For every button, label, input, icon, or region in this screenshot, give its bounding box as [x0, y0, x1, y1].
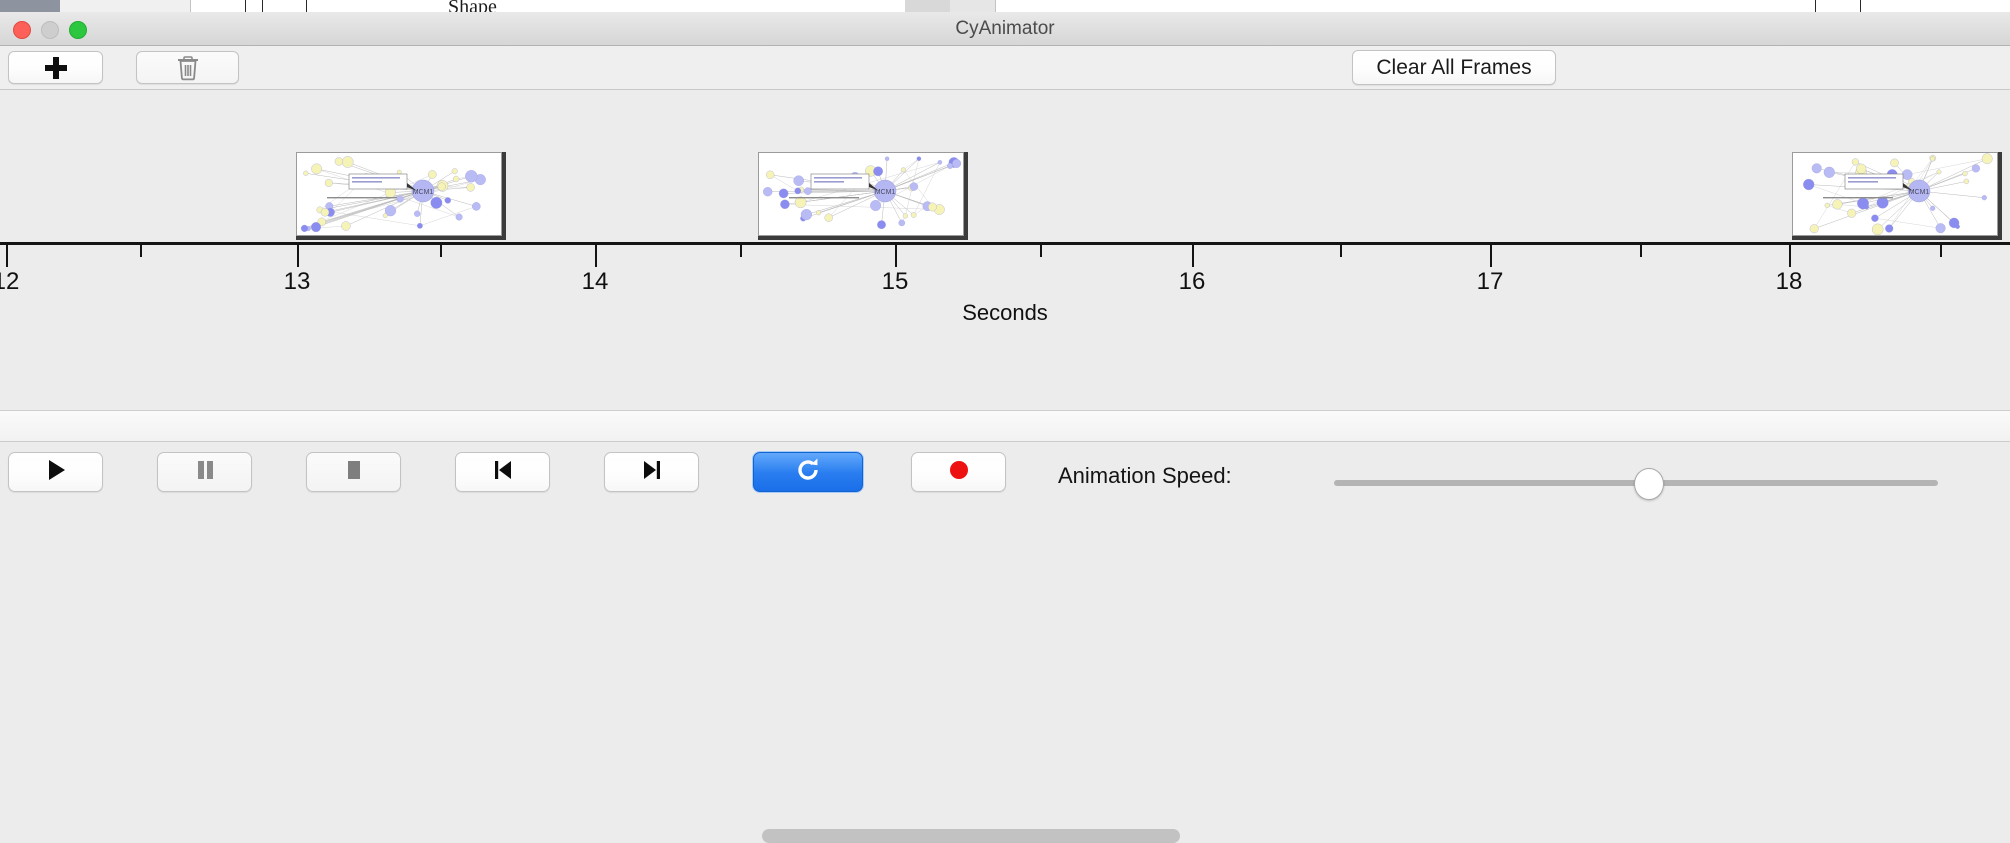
loop-button[interactable] [753, 452, 863, 492]
record-icon [946, 457, 972, 488]
scrollbar-thumb[interactable] [762, 829, 1180, 843]
animation-speed-label: Animation Speed: [1058, 463, 1232, 489]
axis-tick-minor [440, 245, 442, 257]
step-back-button[interactable] [455, 452, 550, 492]
play-button[interactable] [8, 452, 103, 492]
timeline-axis [0, 242, 2010, 245]
frame-thumbnail[interactable]: MCM1 [1792, 152, 1998, 236]
background-divider [1860, 0, 1861, 12]
axis-tick-major [1789, 245, 1791, 267]
axis-tick-major [1192, 245, 1194, 267]
loop-icon [794, 456, 822, 489]
axis-tick-minor [1340, 245, 1342, 257]
axis-tick-major [1490, 245, 1492, 267]
axis-tick-major [297, 245, 299, 267]
playback-control-bar: Animation Speed: [0, 442, 2010, 510]
axis-title: Seconds [0, 300, 2010, 326]
title-bar: CyAnimator [0, 12, 2010, 46]
pause-icon [192, 457, 218, 488]
timeline-frame[interactable]: MCM1 [758, 152, 968, 240]
background-tab [905, 0, 951, 12]
timeline-frame[interactable]: MCM1 [296, 152, 506, 240]
frame-thumbnail[interactable]: MCM1 [296, 152, 502, 236]
background-tab [950, 0, 996, 12]
axis-tick-minor [740, 245, 742, 257]
step-forward-button[interactable] [604, 452, 699, 492]
axis-tick-major [895, 245, 897, 267]
axis-tick-minor [1940, 245, 1942, 257]
delete-frame-button[interactable] [136, 51, 239, 84]
axis-tick-minor [140, 245, 142, 257]
stop-icon [341, 457, 367, 488]
skip-previous-icon [490, 457, 516, 488]
axis-tick-label: 17 [1477, 268, 1504, 296]
play-icon [43, 457, 69, 488]
plus-icon [45, 57, 67, 79]
add-frame-button[interactable] [8, 51, 103, 84]
cyanimator-window: Shape CyAnimator Clear All Frames [0, 0, 2010, 510]
axis-tick-label: 14 [582, 268, 609, 296]
axis-tick-label: 18 [1776, 268, 1803, 296]
record-button[interactable] [911, 452, 1006, 492]
background-divider [1815, 0, 1816, 12]
background-divider [245, 0, 246, 12]
clear-all-frames-button[interactable]: Clear All Frames [1352, 50, 1556, 85]
pause-button [157, 452, 252, 492]
axis-tick-major [595, 245, 597, 267]
frame-thumbnail[interactable]: MCM1 [758, 152, 964, 236]
axis-tick-label: 13 [284, 268, 311, 296]
window-title: CyAnimator [0, 12, 2010, 45]
axis-tick-label: 16 [1179, 268, 1206, 296]
timeline-frame[interactable]: MCM1 [1792, 152, 2002, 240]
background-selected-tab [0, 0, 60, 12]
background-tab [60, 0, 191, 12]
toolbar: Clear All Frames [0, 46, 2010, 90]
skip-next-icon [639, 457, 665, 488]
timeline-panel[interactable]: MCM1MCM1MCM1 12131415161718 Seconds [0, 90, 2010, 411]
axis-tick-label: 15 [882, 268, 909, 296]
trash-icon [176, 54, 200, 82]
animation-speed-slider-knob[interactable] [1634, 468, 1664, 500]
axis-tick-label: 12 [0, 268, 19, 296]
axis-tick-major [6, 245, 8, 267]
axis-tick-minor [1640, 245, 1642, 257]
stop-button [306, 452, 401, 492]
background-divider [262, 0, 263, 12]
timeline-scrollbar[interactable] [0, 411, 2010, 442]
axis-tick-minor [1040, 245, 1042, 257]
background-divider [306, 0, 307, 12]
